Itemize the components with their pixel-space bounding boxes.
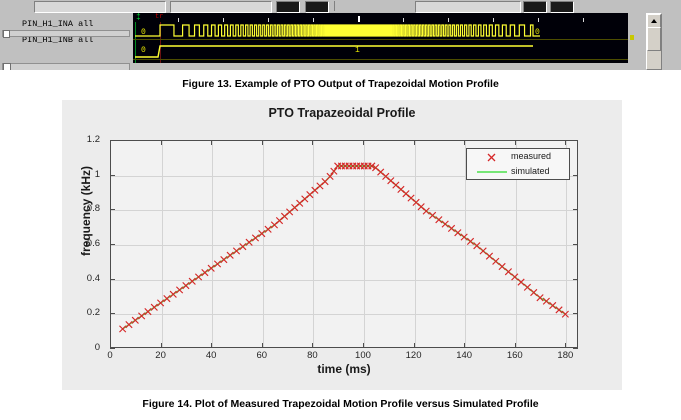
y-tick-mark (573, 244, 578, 245)
y-tick-label: 0.2 (60, 307, 100, 318)
figure-13-caption: Figure 13. Example of PTO Output of Trap… (0, 78, 681, 90)
toolbar-button-4[interactable] (550, 1, 574, 13)
x-axis-label: time (ms) (110, 362, 578, 376)
y-tick-label: 0.8 (60, 203, 100, 214)
waveform-canvas[interactable]: ‡ tr 0 0 0 1 (133, 13, 628, 63)
y-tick-mark (110, 244, 115, 245)
logic-analyzer-toolbar (0, 0, 681, 13)
x-tick-label: 180 (545, 350, 585, 361)
hscroll-knob[interactable] (3, 63, 11, 70)
x-tick-mark (161, 140, 162, 145)
chart-title: PTO Trapazeoidal Profile (62, 106, 622, 120)
x-tick-mark (464, 140, 465, 145)
trigger-label: tr (155, 13, 163, 22)
x-tick-label: 140 (444, 350, 484, 361)
trigger-marker-icon: ‡ (136, 13, 141, 22)
figure-14-caption: Figure 14. Plot of Measured Trapezoidal … (0, 398, 681, 410)
x-tick-mark (565, 140, 566, 145)
x-tick-mark (363, 343, 364, 348)
series-line-simulated (123, 166, 566, 329)
scroll-up-button[interactable] (647, 14, 661, 28)
toolbar-field-3[interactable] (415, 1, 521, 13)
x-tick-mark (312, 343, 313, 348)
slider-knob[interactable] (3, 30, 10, 38)
inb-waveform (133, 43, 628, 61)
chevron-up-icon (651, 19, 657, 23)
y-tick-mark (573, 313, 578, 314)
series-markers-measured (119, 163, 568, 332)
toolbar-field-1[interactable] (34, 1, 166, 13)
toolbar-button-3[interactable] (523, 1, 547, 13)
x-tick-mark (110, 343, 111, 348)
y-tick-mark (110, 279, 115, 280)
signal-name-ina: PIN_H1_INA all (22, 19, 93, 29)
y-tick-mark (110, 175, 115, 176)
signal-slider-ina[interactable] (2, 30, 130, 37)
signal-name-column: PIN_H1_INA all PIN_H1_INB all (0, 13, 133, 63)
vertical-scrollbar-thumb[interactable] (647, 27, 661, 51)
y-tick-label: 0.4 (60, 273, 100, 284)
ina-waveform (133, 22, 628, 43)
y-tick-mark (110, 313, 115, 314)
x-tick-label: 0 (90, 350, 130, 361)
x-tick-mark (515, 343, 516, 348)
x-tick-label: 40 (191, 350, 231, 361)
x-tick-mark (414, 140, 415, 145)
y-tick-mark (573, 279, 578, 280)
legend-label-measured: measured (511, 151, 551, 161)
x-tick-label: 160 (495, 350, 535, 361)
waveform-area: PIN_H1_INA all PIN_H1_INB all ‡ tr (0, 13, 681, 70)
legend-row-measured: measured (467, 150, 571, 164)
toolbar-button-1[interactable] (276, 1, 300, 13)
x-tick-mark (414, 343, 415, 348)
matlab-figure: PTO Trapazeoidal Profile frequency (kHz)… (62, 100, 622, 390)
x-tick-mark (515, 140, 516, 145)
toolbar-separator (334, 1, 335, 11)
x-tick-mark (211, 343, 212, 348)
x-tick-mark (363, 140, 364, 145)
y-tick-mark (573, 348, 578, 349)
y-tick-mark (110, 209, 115, 210)
y-tick-label: 1.2 (60, 134, 100, 145)
x-tick-mark (211, 140, 212, 145)
logic-analyzer-panel: PIN_H1_INA all PIN_H1_INB all ‡ tr (0, 0, 681, 70)
y-tick-mark (573, 175, 578, 176)
x-tick-mark (262, 140, 263, 145)
legend-row-simulated: simulated (467, 165, 571, 179)
x-tick-label: 60 (242, 350, 282, 361)
y-tick-label: 0.6 (60, 238, 100, 249)
legend-label-simulated: simulated (511, 166, 550, 176)
x-tick-label: 100 (343, 350, 383, 361)
y-tick-label: 1 (60, 169, 100, 180)
x-tick-mark (312, 140, 313, 145)
scrollbar-column (628, 13, 681, 70)
x-tick-label: 80 (292, 350, 332, 361)
x-tick-label: 20 (141, 350, 181, 361)
x-tick-mark (464, 343, 465, 348)
y-tick-mark (110, 348, 115, 349)
edge-marker (630, 35, 634, 40)
ina-pulse-train (135, 25, 540, 36)
x-tick-mark (565, 343, 566, 348)
legend-marker-measured (475, 150, 509, 164)
x-tick-label: 120 (394, 350, 434, 361)
legend-marker-simulated (475, 165, 509, 179)
chart-legend: measured simulated (466, 148, 570, 180)
horizontal-scrollbar[interactable] (2, 63, 130, 70)
x-tick-mark (161, 343, 162, 348)
y-tick-mark (573, 209, 578, 210)
time-ruler (133, 13, 628, 22)
y-tick-mark (573, 140, 578, 141)
x-tick-mark (110, 140, 111, 145)
toolbar-field-2[interactable] (170, 1, 272, 13)
x-tick-mark (262, 343, 263, 348)
toolbar-button-2[interactable] (305, 1, 329, 13)
